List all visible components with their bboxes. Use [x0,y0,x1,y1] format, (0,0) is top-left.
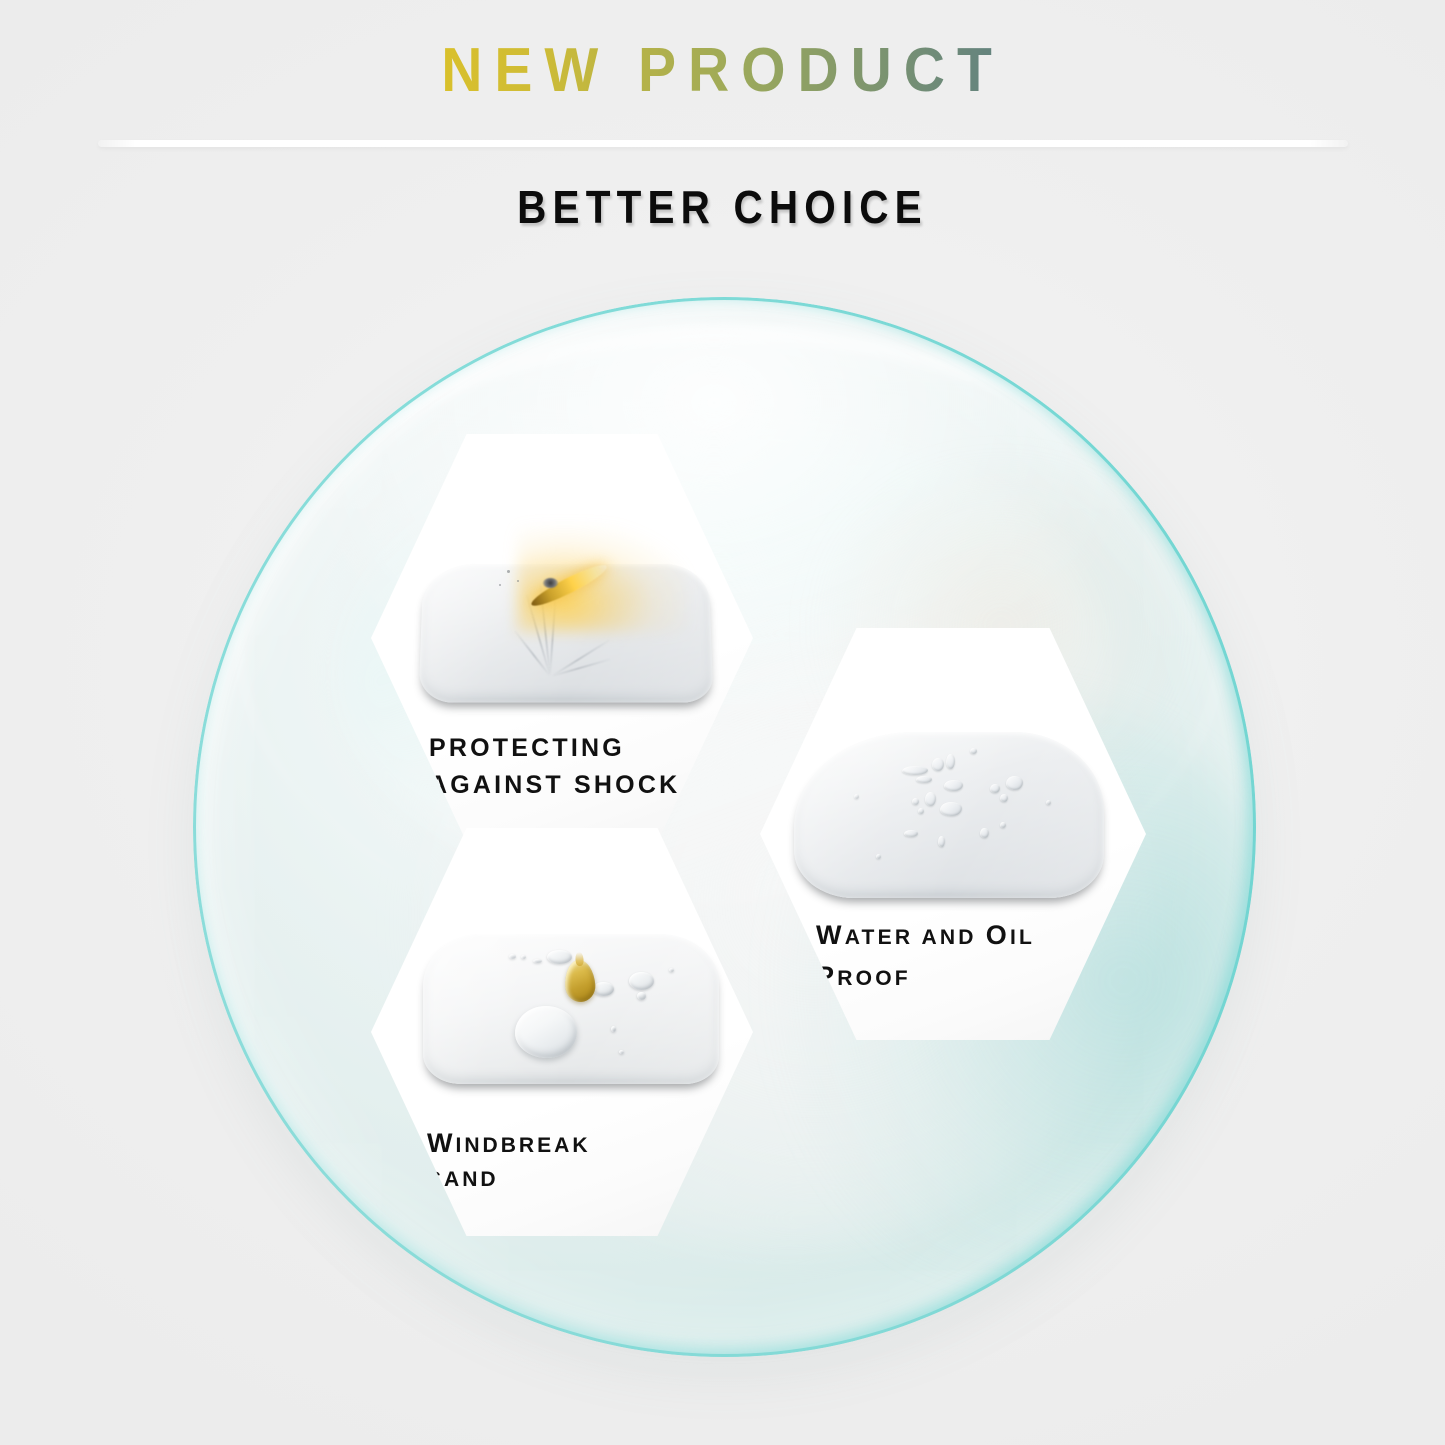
water-smear [904,830,918,837]
water-smear [980,828,989,838]
water-bead [509,954,516,959]
caption-rest: ATER AND [845,926,986,949]
water-smear [854,794,859,799]
water-bead [593,982,614,996]
water-smear [944,780,963,791]
water-smear [925,792,936,806]
water-smear [1000,822,1006,828]
water-bead [629,972,654,990]
lens-image-windbreak [423,934,719,1084]
page-title: NEW PRODUCT [58,38,1387,103]
oil-droplet [564,959,597,1003]
water-bead [619,1050,624,1054]
lens-image-water-oil [794,732,1104,898]
water-smear [1046,800,1051,805]
water-smear [932,758,944,771]
water-bead [611,1026,616,1032]
water-smear [1000,794,1008,802]
caption-rest: ROOF [837,967,911,990]
water-smear [938,836,945,847]
caption-initial: O [986,920,1010,950]
water-smear [916,776,932,783]
water-smear [990,784,1000,793]
water-smear [918,808,924,814]
caption-rest: INDBREAK [455,1134,590,1157]
water-smear [946,754,955,769]
water-smear [876,854,881,859]
lens-image-shock [418,564,713,703]
water-smear [1006,776,1023,790]
water-bead [533,959,542,963]
water-smear [970,748,977,754]
water-bead [637,992,646,1000]
water-bead [669,968,674,972]
header-divider [98,140,1348,147]
product-promo-banner: NEW PRODUCT BETTER CHOICE [0,0,1445,1445]
caption-initial: W [816,920,845,950]
water-bead-large [515,1006,577,1058]
caption-initial: W [427,1128,455,1158]
caption-rest: IL [1010,926,1035,949]
water-smear [902,766,928,775]
water-bead [547,950,572,964]
water-smear [912,798,919,805]
water-bead [521,955,526,959]
page-subtitle: BETTER CHOICE [87,180,1359,234]
water-smear [940,802,962,816]
